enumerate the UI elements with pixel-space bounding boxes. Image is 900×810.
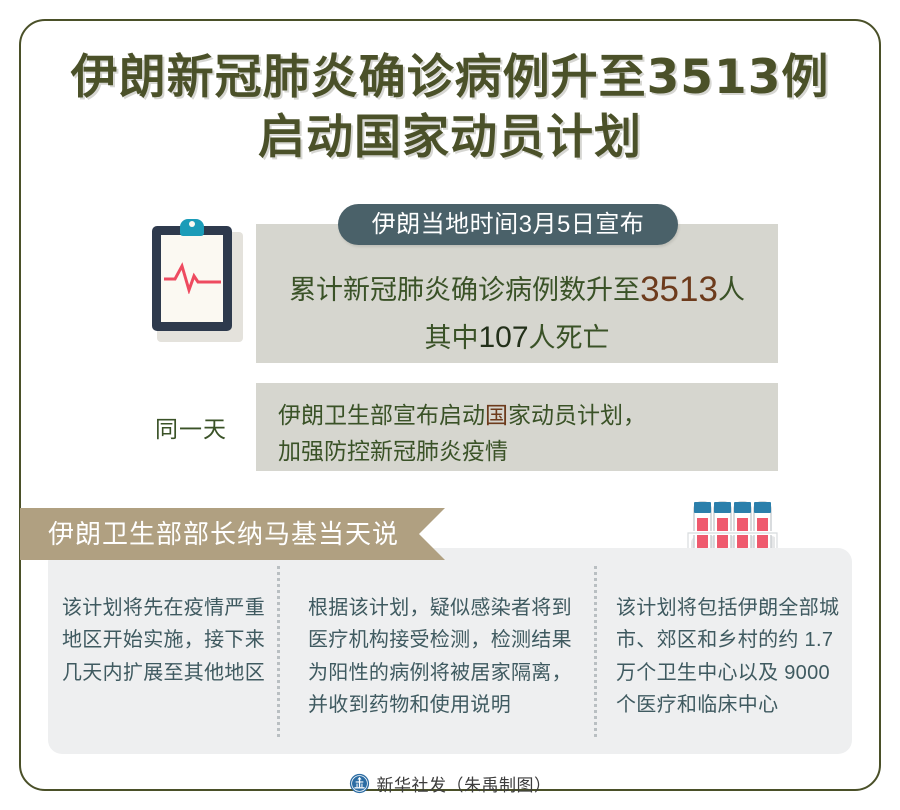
minister-ribbon-banner: 伊朗卫生部部长纳马基当天说 xyxy=(20,508,445,560)
deaths-prefix: 其中 xyxy=(424,323,478,353)
minister-ribbon-label: 伊朗卫生部部长纳马基当天说 xyxy=(48,508,399,560)
title-line-2: 启动国家动员计划 xyxy=(19,108,881,168)
announcement-total-cases: 累计新冠肺炎确诊病例数升至3513人 xyxy=(256,268,778,310)
same-day-text-part3: 加强防控新冠肺炎疫情 xyxy=(278,438,508,464)
footer-credit: 新华社发（朱禹制图） xyxy=(0,771,900,796)
title-line-1: 伊朗新冠肺炎确诊病例升至3513例 xyxy=(19,48,881,108)
footer-credit-text: 新华社发（朱禹制图） xyxy=(377,771,552,796)
total-cases-suffix: 人 xyxy=(718,275,745,305)
same-day-text: 伊朗卫生部宣布启动国家动员计划， 加强防控新冠肺炎疫情 xyxy=(278,398,768,469)
statement-column-2: 根据该计划，疑似感染者将到医疗机构接受检测，检测结果为阳性的病例将被居家隔离，并… xyxy=(308,592,583,722)
clipboard-clip-icon xyxy=(180,219,204,236)
same-day-text-part1: 伊朗卫生部宣布启动 xyxy=(278,402,485,428)
infographic-poster: 伊朗新冠肺炎确诊病例升至3513例 启动国家动员计划 伊朗当地时间3月5日宣布 … xyxy=(0,0,900,810)
deaths-number: 107 xyxy=(478,321,528,354)
column-divider-2 xyxy=(594,566,597,738)
heartbeat-line-icon xyxy=(164,262,221,294)
statement-column-1: 该计划将先在疫情严重地区开始实施，接下来几天内扩展至其他地区 xyxy=(62,592,267,689)
deaths-suffix: 人死亡 xyxy=(529,323,610,353)
total-cases-number: 3513 xyxy=(640,270,718,309)
announcement-deaths: 其中107人死亡 xyxy=(256,316,778,355)
same-day-text-part2: 家动员计划， xyxy=(508,402,646,428)
clipboard-body xyxy=(152,226,232,331)
announcement-date-badge: 伊朗当地时间3月5日宣布 xyxy=(338,204,678,245)
statement-column-3: 该计划将包括伊朗全部城市、郊区和乡村的约 1.7 万个卫生中心以及 9000 个… xyxy=(616,592,856,722)
same-day-label: 同一天 xyxy=(155,410,227,444)
clipboard-ekg-icon xyxy=(152,226,238,339)
xinhua-logo-icon xyxy=(349,773,370,794)
total-cases-prefix: 累计新冠肺炎确诊病例数升至 xyxy=(289,275,640,305)
page-title: 伊朗新冠肺炎确诊病例升至3513例 启动国家动员计划 xyxy=(19,48,881,168)
column-divider-1 xyxy=(277,566,280,738)
same-day-text-accent: 国 xyxy=(485,402,508,428)
